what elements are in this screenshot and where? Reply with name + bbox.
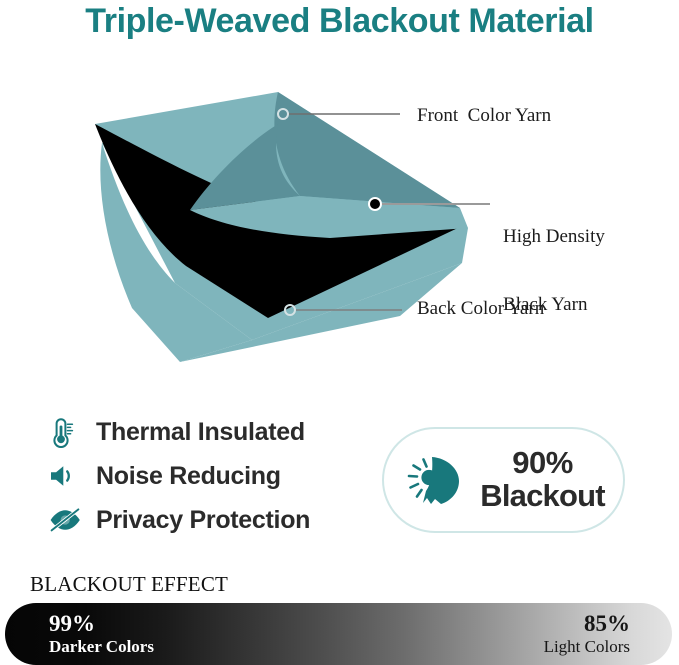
- label-front-color-yarn: Front Color Yarn: [417, 105, 551, 128]
- darker-colors-percent: 99%: [49, 611, 154, 637]
- blackout-word: Blackout: [480, 478, 605, 513]
- feature-item-privacy-protection: Privacy Protection: [48, 498, 378, 542]
- speaker-sound-icon: [48, 458, 88, 494]
- page-title: Triple-Weaved Blackout Material: [0, 2, 679, 41]
- blackout-effect-heading: BLACKOUT EFFECT: [30, 572, 228, 597]
- sun-behind-curtain-icon: [396, 443, 474, 517]
- feature-item-thermal-insulated: Thermal Insulated: [48, 410, 378, 454]
- blackout-badge: 90% Blackout: [382, 427, 625, 533]
- blackout-badge-text: 90% Blackout: [474, 447, 611, 512]
- label-back-color-yarn: Back Color Yarn: [417, 298, 544, 321]
- feature-item-noise-reducing: Noise Reducing: [48, 454, 378, 498]
- feature-label-privacy-protection: Privacy Protection: [88, 506, 310, 535]
- blackout-effect-light-colors: 85% Light Colors: [544, 611, 630, 656]
- light-colors-percent: 85%: [544, 611, 630, 637]
- blackout-effect-darker-colors: 99% Darker Colors: [49, 611, 154, 656]
- feature-label-noise-reducing: Noise Reducing: [88, 462, 281, 491]
- eye-slash-icon: [48, 502, 88, 538]
- feature-label-thermal-insulated: Thermal Insulated: [88, 418, 305, 447]
- darker-colors-caption: Darker Colors: [49, 637, 154, 656]
- blackout-percent: 90%: [512, 445, 573, 480]
- light-colors-caption: Light Colors: [544, 637, 630, 656]
- feature-list: Thermal Insulated Noise Reducing Privacy…: [48, 410, 378, 542]
- label-black-yarn-line1: High Density: [503, 226, 605, 249]
- black-leader-dot: [369, 198, 381, 210]
- thermometer-icon: [48, 414, 88, 450]
